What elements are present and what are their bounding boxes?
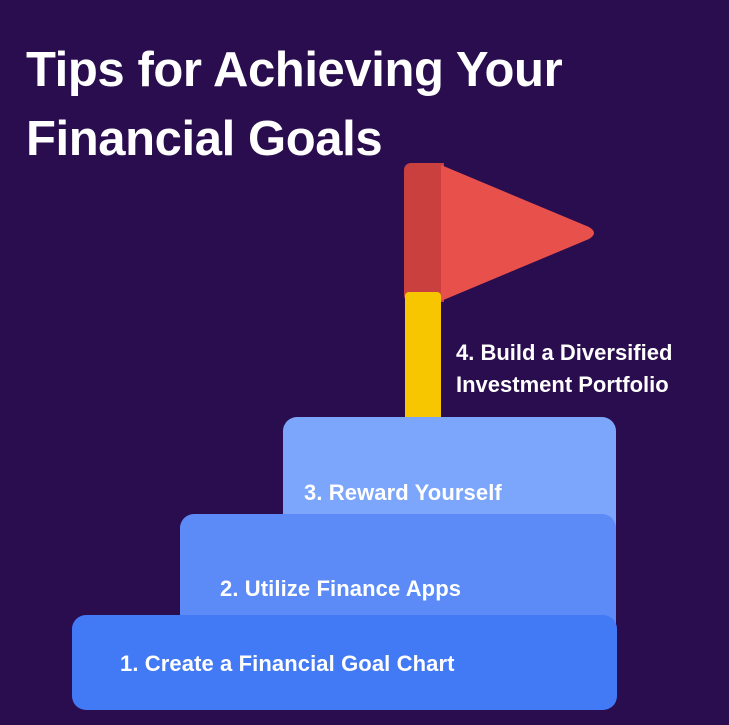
step-1-label: 1. Create a Financial Goal Chart [120,651,455,677]
flag-banner-dark-icon [404,163,444,302]
flag-banner-triangle-icon [441,165,599,301]
step-2-bar[interactable]: 2. Utilize Finance Apps [180,514,616,626]
step-3-label: 3. Reward Yourself [304,480,502,506]
step-2-label: 2. Utilize Finance Apps [220,576,461,602]
step-4-caption: 4. Build a Diversified Investment Portfo… [456,337,706,401]
infographic-canvas: Tips for Achieving Your Financial Goals … [0,0,729,725]
flag-pole-icon [405,292,441,420]
step-1-bar[interactable]: 1. Create a Financial Goal Chart [72,615,617,710]
page-title: Tips for Achieving Your Financial Goals [26,36,626,174]
